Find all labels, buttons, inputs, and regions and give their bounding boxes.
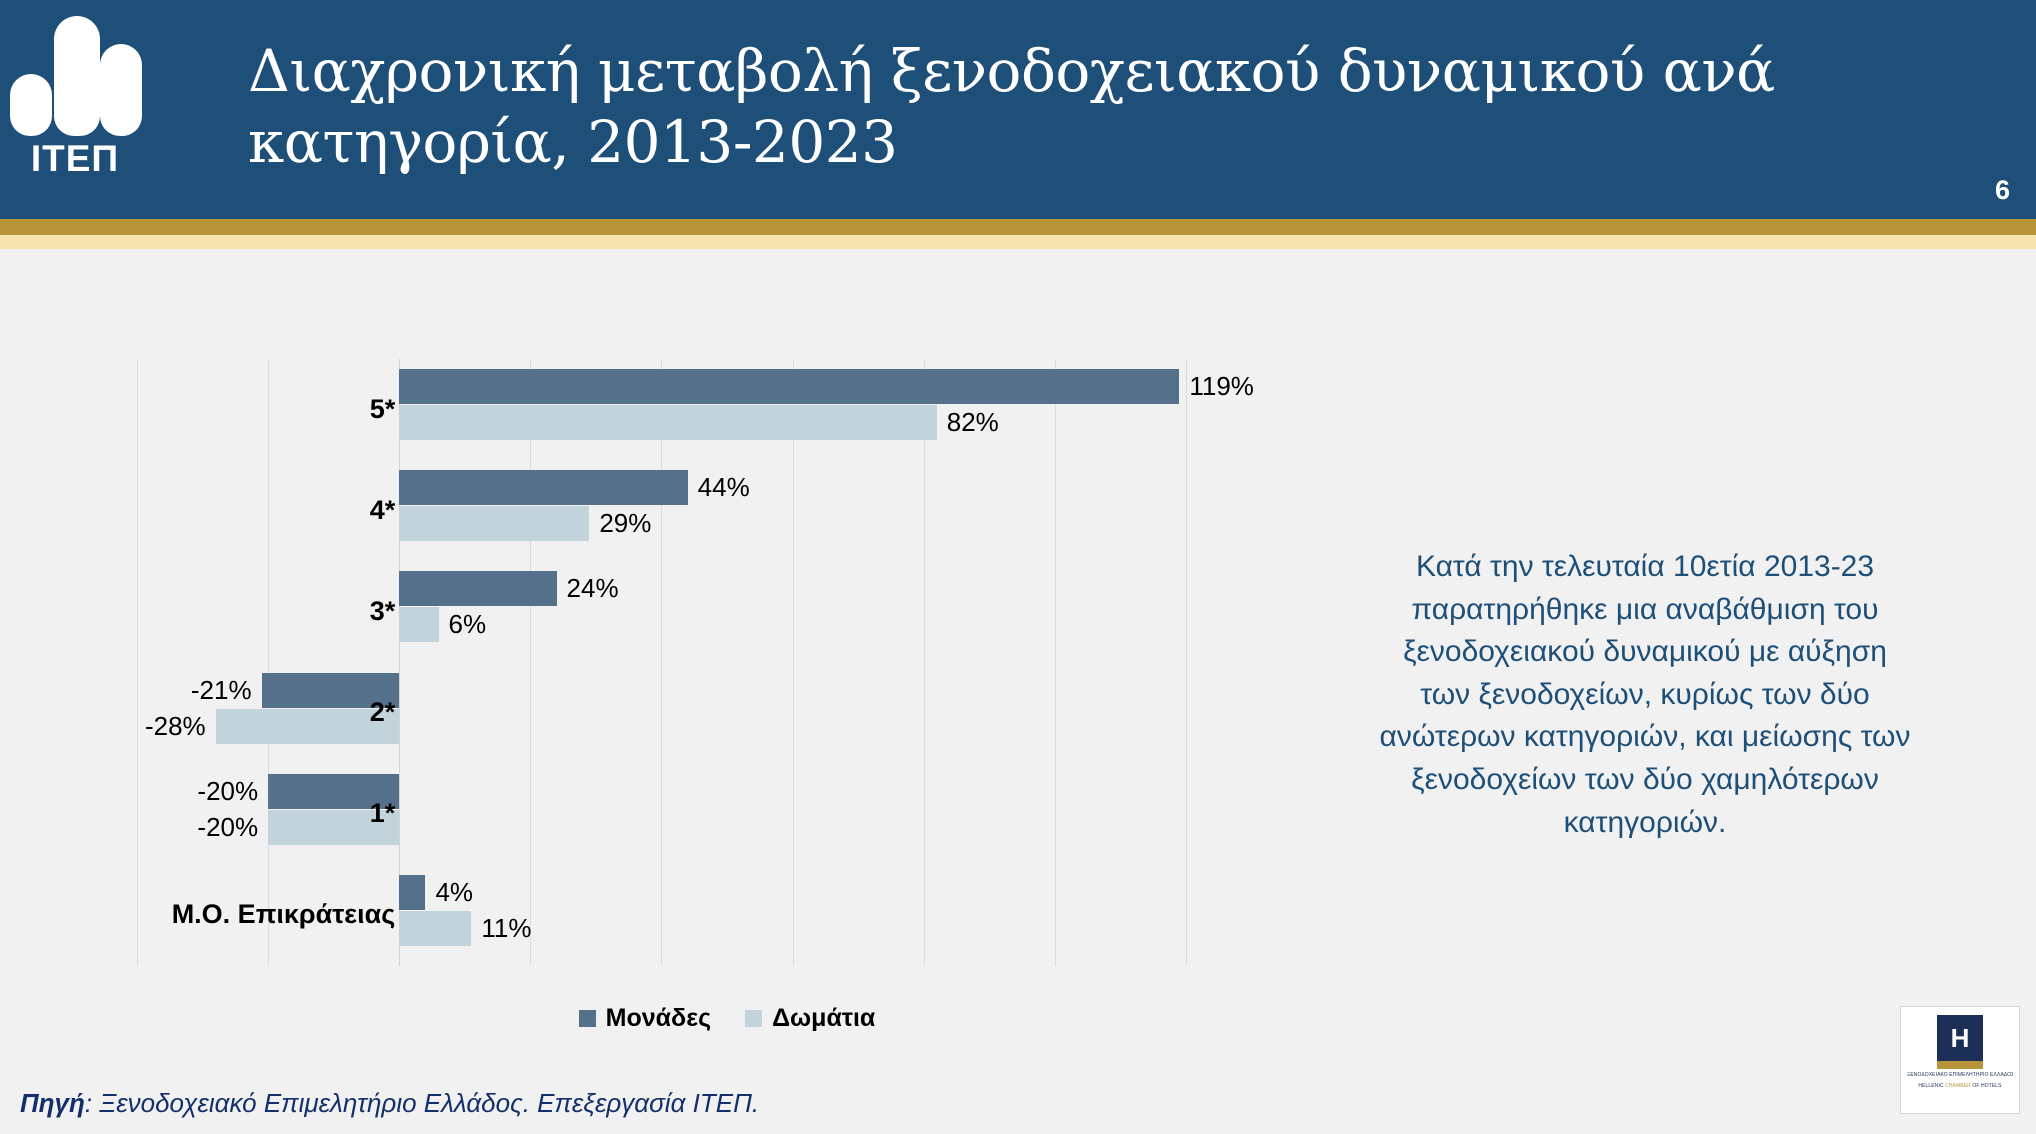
- bar-units: [399, 875, 425, 910]
- bar-value-label: 82%: [947, 405, 999, 440]
- gold-stripe: [0, 219, 2036, 235]
- cream-stripe: [0, 235, 2036, 249]
- bar-units: [399, 470, 687, 505]
- chamber-logo-goldbar: [1937, 1061, 1983, 1069]
- source-note: Πηγή: Ξενοδοχειακό Επιμελητήριο Ελλάδος.…: [20, 1088, 759, 1119]
- category-label: 3*: [370, 598, 396, 625]
- side-note: Κατά την τελευταία 10ετία 2013-23 παρατη…: [1375, 546, 1915, 844]
- chamber-logo-mark: H: [1937, 1015, 1983, 1061]
- chart: 119%82%5*44%29%4*24%6%3*-21%-28%2*-20%-2…: [0, 249, 1430, 1039]
- chamber-logo-english-c: OF HOTELS: [1972, 1083, 2001, 1089]
- bar-value-label: 29%: [599, 506, 651, 541]
- bar-units: [399, 369, 1179, 404]
- bar-value-label: 119%: [1189, 369, 1254, 404]
- bar-value-label: -20%: [197, 774, 258, 809]
- legend-swatch-rooms: [745, 1010, 762, 1027]
- slide: ΙΤΕΠ Διαχρονική μεταβολή ξενοδοχειακού δ…: [0, 0, 2036, 1134]
- logo-bar-center: [54, 16, 100, 136]
- chart-category-row: -21%-28%2*: [137, 663, 1317, 764]
- chamber-logo-greek-name: ΞΕΝΟΔΟΧΕΙΑΚΟ ΕΠΙΜΕΛΗΤΗΡΙΟ ΕΛΛΑΔΟΣ: [1907, 1072, 2013, 1080]
- legend-label: Μονάδες: [606, 1004, 711, 1033]
- itep-logo: ΙΤΕΠ: [0, 12, 150, 192]
- category-label: Μ.Ο. Επικράτειας: [172, 901, 396, 928]
- bar-value-label: -21%: [191, 673, 252, 708]
- legend-item[interactable]: Δωμάτια: [745, 1004, 875, 1033]
- chamber-logo-letter: H: [1937, 1025, 1983, 1051]
- chart-category-row: 44%29%4*: [137, 460, 1317, 561]
- bar-rooms: [399, 506, 589, 541]
- source-text: : Ξενοδοχειακό Επιμελητήριο Ελλάδος. Επε…: [85, 1088, 759, 1118]
- bar-value-label: 44%: [698, 470, 750, 505]
- plot-area: 119%82%5*44%29%4*24%6%3*-21%-28%2*-20%-2…: [137, 359, 1317, 966]
- chamber-logo-english-a: HELLENIC: [1918, 1083, 1945, 1089]
- bar-value-label: 24%: [567, 571, 619, 606]
- bar-rooms: [399, 911, 471, 946]
- chart-category-row: 4%11%Μ.Ο. Επικράτειας: [137, 865, 1317, 966]
- bar-value-label: 4%: [435, 875, 473, 910]
- chart-category-row: 119%82%5*: [137, 359, 1317, 460]
- legend-item[interactable]: Μονάδες: [579, 1004, 711, 1033]
- logo-bar-right: [100, 44, 142, 136]
- chamber-logo-english-b: CHAMBER: [1945, 1083, 1972, 1089]
- legend-label: Δωμάτια: [772, 1004, 875, 1033]
- page-number: 6: [1995, 175, 2010, 206]
- category-label: 4*: [370, 497, 396, 524]
- bar-rooms: [399, 405, 937, 440]
- category-label: 2*: [370, 699, 396, 726]
- chart-category-row: -20%-20%1*: [137, 764, 1317, 865]
- legend-swatch-units: [579, 1010, 596, 1027]
- logo-bar-left: [10, 74, 52, 136]
- bar-value-label: -20%: [197, 810, 258, 845]
- bar-rooms: [399, 607, 438, 642]
- bar-units: [399, 571, 556, 606]
- hellenic-chamber-of-hotels-logo: H ΞΕΝΟΔΟΧΕΙΑΚΟ ΕΠΙΜΕΛΗΤΗΡΙΟ ΕΛΛΑΔΟΣ HELL…: [1900, 1006, 2020, 1114]
- chart-category-row: 24%6%3*: [137, 561, 1317, 662]
- bar-value-label: -28%: [145, 709, 206, 744]
- chamber-logo-english-name: HELLENIC CHAMBER OF HOTELS: [1907, 1083, 2013, 1091]
- bar-value-label: 11%: [481, 911, 531, 946]
- bar-value-label: 6%: [449, 607, 487, 642]
- itep-logo-mark: [8, 14, 144, 136]
- chart-legend: ΜονάδεςΔωμάτια: [137, 1004, 1317, 1033]
- page-title: Διαχρονική μεταβολή ξενοδοχειακού δυναμι…: [248, 36, 1848, 178]
- category-label: 1*: [370, 800, 396, 827]
- itep-logo-text: ΙΤΕΠ: [0, 138, 150, 180]
- source-label: Πηγή: [20, 1088, 85, 1118]
- category-label: 5*: [370, 396, 396, 423]
